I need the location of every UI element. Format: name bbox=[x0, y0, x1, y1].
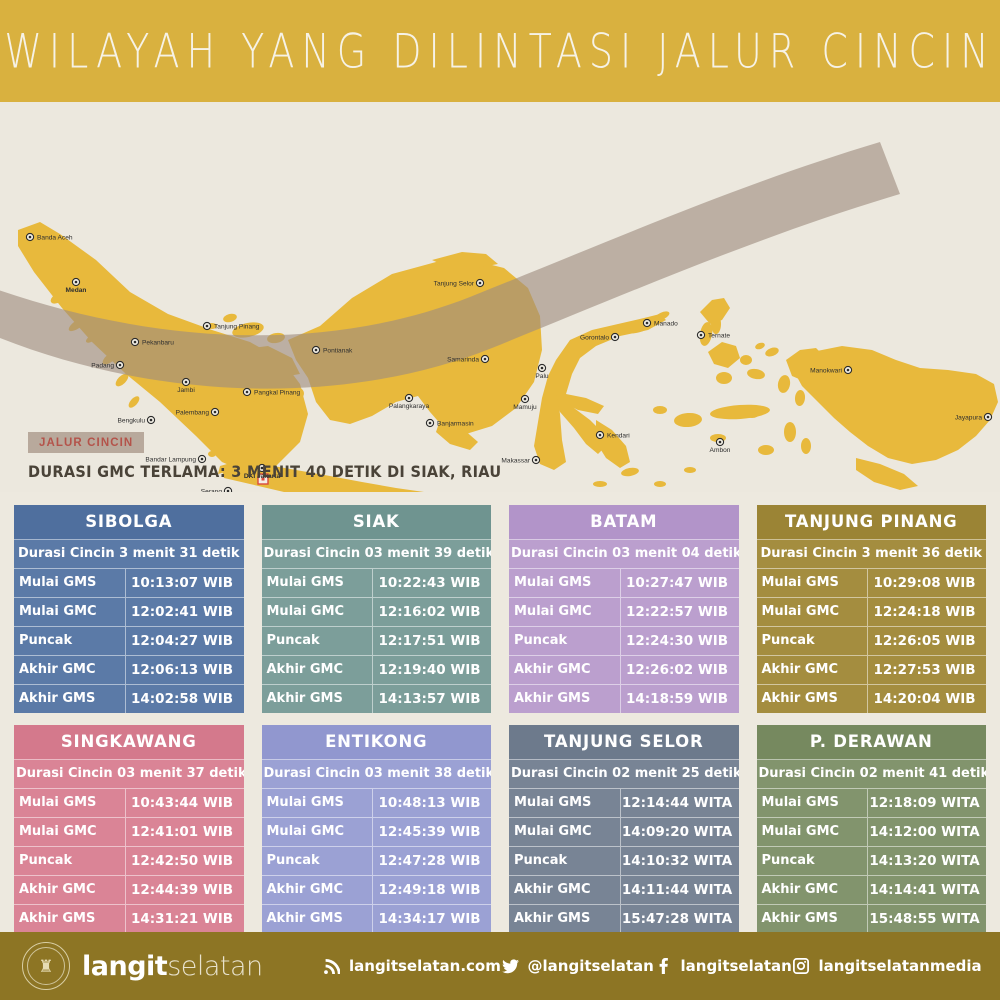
city-dot-center-icon bbox=[614, 336, 617, 339]
city-card: TANJUNG PINANGDurasi Cincin 3 menit 36 d… bbox=[757, 505, 987, 713]
card-duration: Durasi Cincin 3 menit 31 detik bbox=[14, 539, 244, 568]
city-marker bbox=[147, 416, 154, 423]
timing-value: 12:42:50 WIB bbox=[126, 847, 244, 875]
city-marker bbox=[26, 233, 33, 240]
city-card: TANJUNG SELORDurasi Cincin 02 menit 25 d… bbox=[509, 725, 739, 933]
footer-link[interactable]: @langitselatan bbox=[502, 957, 654, 975]
city-marker bbox=[984, 413, 991, 420]
footer-links: langitselatan.com@langitselatanlangitsel… bbox=[263, 957, 1000, 975]
seal-inner-ring bbox=[27, 947, 65, 985]
timing-label: Mulai GMS bbox=[14, 569, 126, 597]
timing-label: Mulai GMC bbox=[509, 818, 621, 846]
city-dot-center-icon bbox=[29, 236, 32, 239]
timing-value: 15:48:55 WITA bbox=[868, 905, 986, 933]
city-dot-center-icon bbox=[599, 434, 602, 437]
timing-label: Mulai GMS bbox=[509, 789, 621, 817]
map-island bbox=[620, 466, 639, 477]
card-timing-row: Akhir GMC12:44:39 WIB bbox=[14, 875, 244, 904]
city-label: Tanjung Selor bbox=[434, 280, 475, 287]
timing-value: 12:24:30 WIB bbox=[621, 627, 739, 655]
rss-icon bbox=[323, 958, 340, 975]
timing-value: 12:02:41 WIB bbox=[126, 598, 244, 626]
city-marker bbox=[426, 419, 433, 426]
city-dot-center-icon bbox=[535, 459, 538, 462]
timing-value: 14:12:00 WITA bbox=[868, 818, 986, 846]
footer-link-label: @langitselatan bbox=[528, 957, 654, 975]
card-city-title: P. DERAWAN bbox=[757, 725, 987, 759]
card-duration: Durasi Cincin 03 menit 37 detik bbox=[14, 759, 244, 788]
city-marker bbox=[182, 378, 189, 385]
card-timing-row: Puncak12:04:27 WIB bbox=[14, 626, 244, 655]
timing-value: 10:43:44 WIB bbox=[126, 789, 244, 817]
city-marker bbox=[203, 322, 210, 329]
card-timing-row: Akhir GMC14:14:41 WITA bbox=[757, 875, 987, 904]
timing-label: Akhir GMS bbox=[757, 685, 869, 713]
map-island bbox=[801, 438, 811, 454]
timing-value: 10:27:47 WIB bbox=[621, 569, 739, 597]
card-timing-row: Akhir GMC12:49:18 WIB bbox=[262, 875, 492, 904]
map-island bbox=[674, 412, 703, 428]
card-duration: Durasi Cincin 02 menit 41 detik bbox=[757, 759, 987, 788]
card-timing-row: Mulai GMS12:18:09 WITA bbox=[757, 788, 987, 817]
card-duration: Durasi Cincin 03 menit 04 detik bbox=[509, 539, 739, 568]
timing-value: 10:22:43 WIB bbox=[373, 569, 491, 597]
city-label: Gorontalo bbox=[580, 334, 609, 341]
map-island bbox=[653, 406, 667, 414]
timing-value: 14:11:44 WITA bbox=[621, 876, 739, 904]
timing-value: 12:22:57 WIB bbox=[621, 598, 739, 626]
card-timing-row: Mulai GMS10:43:44 WIB bbox=[14, 788, 244, 817]
twitter-icon bbox=[502, 958, 519, 975]
map-island bbox=[764, 346, 780, 358]
timing-label: Puncak bbox=[14, 627, 126, 655]
timing-label: Akhir GMS bbox=[14, 685, 126, 713]
map-island bbox=[746, 368, 765, 381]
card-timing-row: Akhir GMC12:19:40 WIB bbox=[262, 655, 492, 684]
card-duration: Durasi Cincin 03 menit 39 detik bbox=[262, 539, 492, 568]
city-dot-center-icon bbox=[987, 416, 990, 419]
city-label: Palembang bbox=[176, 409, 210, 416]
timing-label: Akhir GMS bbox=[262, 905, 374, 933]
city-label: Padang bbox=[91, 362, 114, 369]
footer-logo[interactable]: ♜ langitselatan bbox=[22, 942, 263, 990]
city-dot-center-icon bbox=[479, 282, 482, 285]
city-label: Ternate bbox=[708, 332, 730, 339]
city-marker bbox=[405, 394, 412, 401]
timing-value: 12:45:39 WIB bbox=[373, 818, 491, 846]
facebook-icon bbox=[655, 958, 672, 975]
timing-label: Puncak bbox=[757, 627, 869, 655]
timing-label: Mulai GMS bbox=[262, 789, 374, 817]
timing-value: 14:13:57 WIB bbox=[373, 685, 491, 713]
card-timing-row: Puncak12:17:51 WIB bbox=[262, 626, 492, 655]
city-label: Tanjung Pinang bbox=[214, 323, 260, 330]
legend-chip-jalur-cincin: JALUR CINCIN bbox=[28, 432, 144, 453]
timing-label: Puncak bbox=[509, 627, 621, 655]
city-marker bbox=[481, 355, 488, 362]
city-card: BATAMDurasi Cincin 03 menit 04 detikMula… bbox=[509, 505, 739, 713]
card-timing-row: Mulai GMC12:24:18 WIB bbox=[757, 597, 987, 626]
city-label: Medan bbox=[66, 287, 87, 294]
timing-label: Akhir GMC bbox=[509, 656, 621, 684]
timing-value: 12:49:18 WIB bbox=[373, 876, 491, 904]
city-marker bbox=[211, 408, 218, 415]
city-dot-center-icon bbox=[214, 411, 217, 414]
city-label: Bengkulu bbox=[118, 417, 146, 424]
timing-value: 12:41:01 WIB bbox=[126, 818, 244, 846]
map-island bbox=[758, 445, 774, 455]
city-label: Jayapura bbox=[955, 414, 982, 421]
city-dot-center-icon bbox=[150, 419, 153, 422]
timing-label: Akhir GMC bbox=[509, 876, 621, 904]
timing-label: Mulai GMS bbox=[757, 569, 869, 597]
city-label: Manokwari bbox=[810, 367, 842, 374]
timing-label: Akhir GMC bbox=[262, 876, 374, 904]
timing-value: 12:19:40 WIB bbox=[373, 656, 491, 684]
timing-value: 14:31:21 WIB bbox=[126, 905, 244, 933]
timing-label: Akhir GMC bbox=[757, 876, 869, 904]
timing-value: 14:09:20 WITA bbox=[621, 818, 739, 846]
timing-label: Akhir GMS bbox=[14, 905, 126, 933]
instagram-icon bbox=[792, 958, 809, 975]
infographic-page: WILAYAH YANG DILINTASI JALUR CINCIN Band… bbox=[0, 0, 1000, 1000]
card-timing-row: Mulai GMC12:16:02 WIB bbox=[262, 597, 492, 626]
timing-value: 12:27:53 WIB bbox=[868, 656, 986, 684]
city-label: Banjarmasin bbox=[437, 420, 474, 427]
city-dot-center-icon bbox=[541, 367, 544, 370]
card-timing-row: Puncak12:42:50 WIB bbox=[14, 846, 244, 875]
timing-value: 14:13:20 WITA bbox=[868, 847, 986, 875]
timing-value: 12:18:09 WITA bbox=[868, 789, 986, 817]
timing-label: Akhir GMS bbox=[509, 685, 621, 713]
city-marker bbox=[643, 319, 650, 326]
city-marker bbox=[243, 388, 250, 395]
city-dot-center-icon bbox=[185, 381, 188, 384]
map-island bbox=[745, 410, 759, 418]
footer-bar: ♜ langitselatan langitselatan.com@langit… bbox=[0, 932, 1000, 1000]
timing-label: Mulai GMC bbox=[262, 818, 374, 846]
city-label: Serang bbox=[201, 488, 223, 492]
timing-label: Mulai GMC bbox=[14, 598, 126, 626]
city-dot-center-icon bbox=[246, 391, 249, 394]
card-timing-row: Mulai GMC12:22:57 WIB bbox=[509, 597, 739, 626]
timing-label: Mulai GMC bbox=[14, 818, 126, 846]
map-landmass bbox=[596, 420, 630, 468]
city-marker bbox=[116, 361, 123, 368]
city-label: Banda Aceh bbox=[37, 234, 73, 241]
footer-link-label: langitselatan.com bbox=[349, 957, 501, 975]
timing-label: Akhir GMC bbox=[14, 876, 126, 904]
timing-value: 10:29:08 WIB bbox=[868, 569, 986, 597]
city-dot-center-icon bbox=[847, 369, 850, 372]
timing-label: Puncak bbox=[757, 847, 869, 875]
card-city-title: TANJUNG SELOR bbox=[509, 725, 739, 759]
city-label: Ambon bbox=[710, 447, 731, 454]
timing-label: Puncak bbox=[509, 847, 621, 875]
card-city-title: BATAM bbox=[509, 505, 739, 539]
card-timing-row: Akhir GMC12:27:53 WIB bbox=[757, 655, 987, 684]
city-label: Pangkal Pinang bbox=[254, 389, 301, 396]
langitselatan-seal-icon: ♜ bbox=[22, 942, 70, 990]
card-city-title: ENTIKONG bbox=[262, 725, 492, 759]
timing-value: 10:13:07 WIB bbox=[126, 569, 244, 597]
city-marker bbox=[521, 395, 528, 402]
map-landmass bbox=[700, 298, 730, 324]
city-label: Manado bbox=[654, 320, 678, 327]
timing-value: 12:24:18 WIB bbox=[868, 598, 986, 626]
city-label: Mamuju bbox=[513, 404, 537, 411]
card-duration: Durasi Cincin 3 menit 36 detik bbox=[757, 539, 987, 568]
card-timing-row: Mulai GMC12:02:41 WIB bbox=[14, 597, 244, 626]
brand-light: selatan bbox=[167, 951, 262, 982]
map-island bbox=[654, 481, 666, 487]
timing-value: 12:17:51 WIB bbox=[373, 627, 491, 655]
timing-label: Mulai GMC bbox=[509, 598, 621, 626]
city-marker bbox=[538, 364, 545, 371]
timing-label: Akhir GMS bbox=[757, 905, 869, 933]
card-timing-row: Mulai GMS10:48:13 WIB bbox=[262, 788, 492, 817]
brand-bold: langit bbox=[82, 951, 167, 982]
timing-label: Puncak bbox=[14, 847, 126, 875]
card-city-title: SIBOLGA bbox=[14, 505, 244, 539]
map-island bbox=[740, 355, 752, 365]
map-island bbox=[784, 422, 796, 442]
card-timing-row: Mulai GMS10:29:08 WIB bbox=[757, 568, 987, 597]
timing-value: 14:02:58 WIB bbox=[126, 685, 244, 713]
city-label: Kendari bbox=[607, 432, 630, 439]
card-city-title: TANJUNG PINANG bbox=[757, 505, 987, 539]
footer-link[interactable]: langitselatan bbox=[655, 957, 792, 975]
city-dot-center-icon bbox=[408, 397, 411, 400]
timing-label: Mulai GMS bbox=[14, 789, 126, 817]
card-timing-row: Akhir GMS14:31:21 WIB bbox=[14, 904, 244, 933]
timing-label: Mulai GMS bbox=[509, 569, 621, 597]
card-timing-row: Puncak14:13:20 WITA bbox=[757, 846, 987, 875]
timing-label: Mulai GMC bbox=[757, 598, 869, 626]
card-duration: Durasi Cincin 03 menit 38 detik bbox=[262, 759, 492, 788]
timing-value: 12:06:13 WIB bbox=[126, 656, 244, 684]
map-island bbox=[777, 374, 792, 394]
timing-value: 12:04:27 WIB bbox=[126, 627, 244, 655]
card-timing-row: Mulai GMS10:27:47 WIB bbox=[509, 568, 739, 597]
city-label: Makassar bbox=[501, 457, 530, 464]
timing-value: 10:48:13 WIB bbox=[373, 789, 491, 817]
card-timing-row: Mulai GMC14:09:20 WITA bbox=[509, 817, 739, 846]
card-timing-row: Akhir GMS14:34:17 WIB bbox=[262, 904, 492, 933]
footer-link-label: langitselatan bbox=[681, 957, 792, 975]
timing-value: 12:26:05 WIB bbox=[868, 627, 986, 655]
timing-label: Akhir GMS bbox=[509, 905, 621, 933]
brand-wordmark: langitselatan bbox=[82, 951, 263, 982]
timing-value: 14:20:04 WIB bbox=[868, 685, 986, 713]
card-timing-row: Akhir GMS14:02:58 WIB bbox=[14, 684, 244, 713]
map-island bbox=[127, 394, 142, 409]
card-timing-row: Puncak14:10:32 WITA bbox=[509, 846, 739, 875]
city-dot-center-icon bbox=[646, 322, 649, 325]
city-label: Samarinda bbox=[447, 356, 479, 363]
city-card: SIAKDurasi Cincin 03 menit 39 detikMulai… bbox=[262, 505, 492, 713]
city-card: SIBOLGADurasi Cincin 3 menit 31 detikMul… bbox=[14, 505, 244, 713]
timing-label: Mulai GMC bbox=[757, 818, 869, 846]
city-card: P. DERAWANDurasi Cincin 02 menit 41 deti… bbox=[757, 725, 987, 933]
city-label: Pekanbaru bbox=[142, 339, 174, 346]
city-marker bbox=[697, 331, 704, 338]
card-timing-row: Mulai GMC12:41:01 WIB bbox=[14, 817, 244, 846]
map-island bbox=[684, 467, 696, 473]
city-marker bbox=[224, 487, 231, 492]
map-legend: JALUR CINCIN DURASI GMC TERLAMA: 3 MENIT… bbox=[28, 432, 501, 480]
timing-label: Akhir GMC bbox=[262, 656, 374, 684]
city-dot-center-icon bbox=[484, 358, 487, 361]
map-island bbox=[754, 341, 765, 350]
city-dot-center-icon bbox=[206, 325, 209, 328]
city-marker bbox=[131, 338, 138, 345]
legend-note: DURASI GMC TERLAMA: 3 MENIT 40 DETIK DI … bbox=[28, 464, 501, 481]
card-timing-row: Puncak12:47:28 WIB bbox=[262, 846, 492, 875]
timing-value: 12:14:44 WITA bbox=[621, 789, 739, 817]
city-dot-center-icon bbox=[315, 349, 318, 352]
timing-value: 12:26:02 WIB bbox=[621, 656, 739, 684]
city-marker bbox=[844, 366, 851, 373]
city-marker bbox=[476, 279, 483, 286]
footer-link[interactable]: langitselatan.com bbox=[323, 957, 501, 975]
card-city-title: SINGKAWANG bbox=[14, 725, 244, 759]
city-dot-center-icon bbox=[134, 341, 137, 344]
map-island bbox=[222, 312, 238, 323]
city-marker bbox=[532, 456, 539, 463]
timing-value: 12:47:28 WIB bbox=[373, 847, 491, 875]
city-dot-center-icon bbox=[700, 334, 703, 337]
card-timing-row: Mulai GMS10:22:43 WIB bbox=[262, 568, 492, 597]
card-timing-row: Mulai GMS10:13:07 WIB bbox=[14, 568, 244, 597]
timing-value: 14:18:59 WIB bbox=[621, 685, 739, 713]
city-label: Jambi bbox=[177, 387, 195, 394]
city-card: SINGKAWANGDurasi Cincin 03 menit 37 deti… bbox=[14, 725, 244, 933]
timing-value: 15:47:28 WITA bbox=[621, 905, 739, 933]
city-marker bbox=[596, 431, 603, 438]
city-card: ENTIKONGDurasi Cincin 03 menit 38 detikM… bbox=[262, 725, 492, 933]
timing-value: 12:44:39 WIB bbox=[126, 876, 244, 904]
card-timing-row: Akhir GMS15:47:28 WITA bbox=[509, 904, 739, 933]
city-label: Palangkaraya bbox=[389, 403, 430, 410]
map-landmass bbox=[708, 342, 740, 368]
timing-label: Akhir GMC bbox=[14, 656, 126, 684]
header-banner: WILAYAH YANG DILINTASI JALUR CINCIN bbox=[0, 0, 1000, 102]
card-duration: Durasi Cincin 02 menit 25 detik bbox=[509, 759, 739, 788]
footer-link-label: langitselatanmedia bbox=[818, 957, 981, 975]
card-timing-row: Akhir GMS14:20:04 WIB bbox=[757, 684, 987, 713]
card-timing-row: Puncak12:26:05 WIB bbox=[757, 626, 987, 655]
card-timing-row: Akhir GMC12:26:02 WIB bbox=[509, 655, 739, 684]
card-timing-row: Mulai GMC14:12:00 WITA bbox=[757, 817, 987, 846]
card-timing-row: Mulai GMS12:14:44 WITA bbox=[509, 788, 739, 817]
timing-label: Akhir GMS bbox=[262, 685, 374, 713]
card-timing-row: Akhir GMS14:18:59 WIB bbox=[509, 684, 739, 713]
footer-link[interactable]: langitselatanmedia bbox=[792, 957, 981, 975]
timing-value: 12:16:02 WIB bbox=[373, 598, 491, 626]
city-dot-center-icon bbox=[75, 281, 78, 284]
map-island bbox=[716, 372, 732, 384]
card-timing-row: Mulai GMC12:45:39 WIB bbox=[262, 817, 492, 846]
city-marker bbox=[611, 333, 618, 340]
city-label: Pontianak bbox=[323, 347, 353, 354]
card-timing-row: Akhir GMC12:06:13 WIB bbox=[14, 655, 244, 684]
city-dot-center-icon bbox=[429, 422, 432, 425]
timing-label: Puncak bbox=[262, 847, 374, 875]
city-dot-center-icon bbox=[119, 364, 122, 367]
city-marker bbox=[312, 346, 319, 353]
timing-value: 14:14:41 WITA bbox=[868, 876, 986, 904]
timing-value: 14:34:17 WIB bbox=[373, 905, 491, 933]
timing-label: Mulai GMS bbox=[757, 789, 869, 817]
timing-value: 14:10:32 WITA bbox=[621, 847, 739, 875]
city-dot-center-icon bbox=[524, 398, 527, 401]
city-timing-cards: SIBOLGADurasi Cincin 3 menit 31 detikMul… bbox=[14, 505, 986, 933]
timing-label: Akhir GMC bbox=[757, 656, 869, 684]
card-timing-row: Akhir GMC14:11:44 WITA bbox=[509, 875, 739, 904]
timing-label: Puncak bbox=[262, 627, 374, 655]
map-island bbox=[593, 481, 607, 487]
timing-label: Mulai GMC bbox=[262, 598, 374, 626]
map-island bbox=[794, 390, 805, 407]
city-label: Palu bbox=[535, 373, 549, 380]
city-marker bbox=[716, 438, 723, 445]
timing-label: Mulai GMS bbox=[262, 569, 374, 597]
card-timing-row: Akhir GMS14:13:57 WIB bbox=[262, 684, 492, 713]
card-timing-row: Puncak12:24:30 WIB bbox=[509, 626, 739, 655]
card-timing-row: Akhir GMS15:48:55 WITA bbox=[757, 904, 987, 933]
map-island bbox=[710, 403, 771, 421]
page-title: WILAYAH YANG DILINTASI JALUR CINCIN bbox=[4, 24, 995, 79]
city-dot-center-icon bbox=[719, 441, 722, 444]
card-city-title: SIAK bbox=[262, 505, 492, 539]
city-marker bbox=[72, 278, 79, 285]
